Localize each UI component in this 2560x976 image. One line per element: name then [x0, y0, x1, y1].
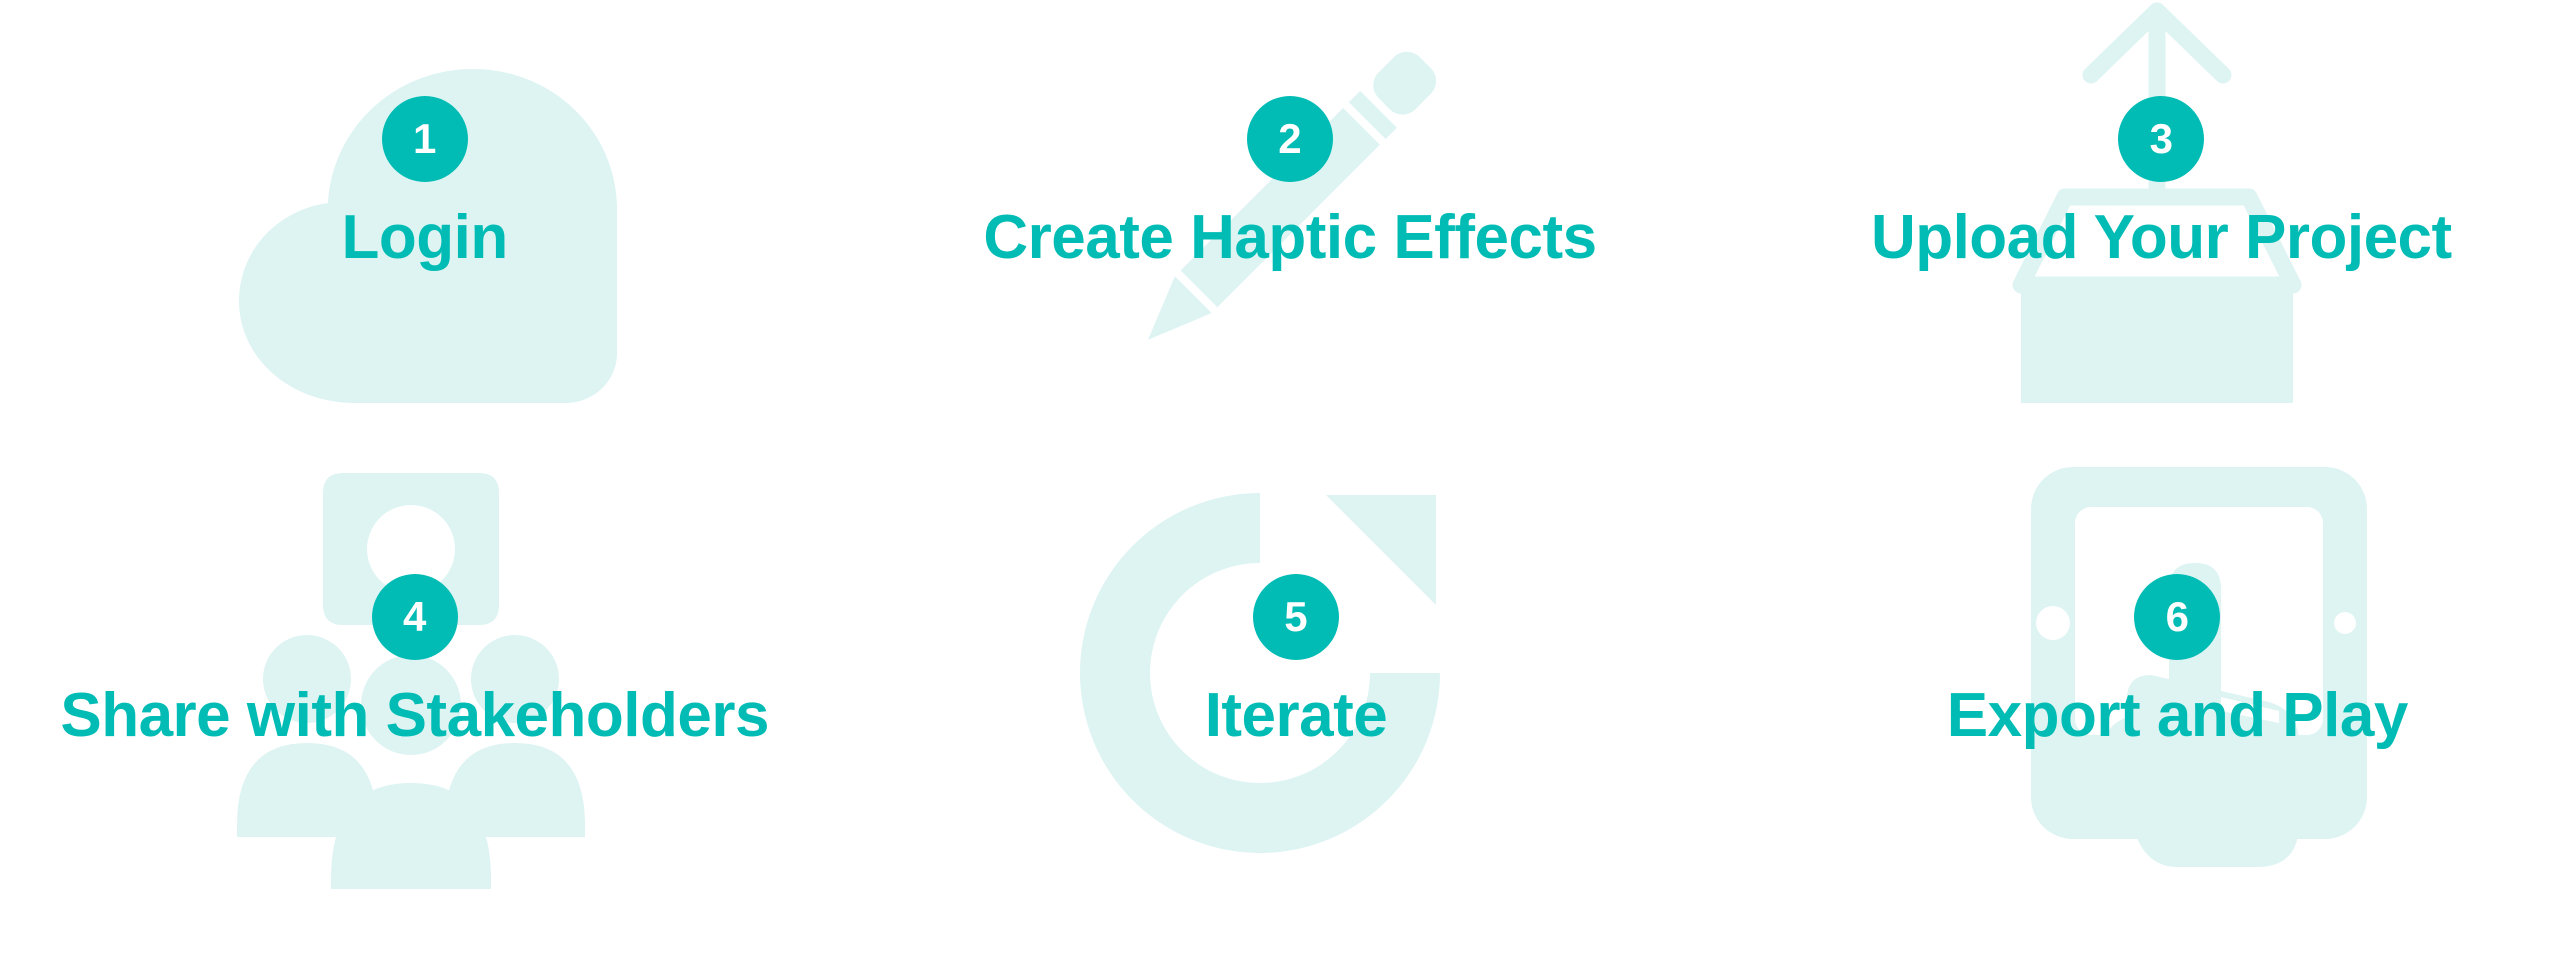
step-label-6: Export and Play	[1947, 682, 2408, 750]
step-label-1: Login	[342, 204, 508, 272]
step-number-badge-6: 6	[2134, 574, 2220, 660]
refresh-loop-icon	[1040, 461, 1480, 891]
step-number-6: 6	[2166, 596, 2189, 638]
step-number-3: 3	[2150, 118, 2173, 160]
step-stack-1: 1 Login	[145, 1, 705, 471]
step-number-5: 5	[1284, 596, 1307, 638]
step-number-badge-3: 3	[2118, 96, 2204, 182]
step-number-4: 4	[403, 596, 426, 638]
step-card-5[interactable]: 5 Iterate	[853, 488, 1706, 976]
step-card-2[interactable]: 2 Create Haptic Effects	[853, 0, 1706, 488]
step-number-badge-2: 2	[1247, 96, 1333, 182]
people-group-icon	[191, 465, 631, 895]
step-stack-4: 4 Share with Stakeholders	[135, 479, 695, 949]
step-label-4: Share with Stakeholders	[60, 682, 769, 750]
step-card-4[interactable]: 4 Share with Stakeholders	[0, 488, 853, 976]
step-stack-3: 3 Upload Your Project	[1881, 1, 2441, 471]
tablet-touch-icon	[1979, 461, 2419, 891]
step-number-1: 1	[413, 118, 436, 160]
step-number-2: 2	[1278, 118, 1301, 160]
step-stack-2: 2 Create Haptic Effects	[1010, 1, 1570, 471]
step-number-badge-1: 1	[382, 96, 468, 182]
step-label-3: Upload Your Project	[1871, 204, 2452, 272]
step-card-6[interactable]: 6 Export and Play	[1707, 488, 2560, 976]
step-stack-5: 5 Iterate	[1016, 479, 1576, 949]
workflow-steps-board: 1 Login 2 Create Ha	[0, 0, 2560, 976]
step-stack-6: 6 Export and Play	[1897, 479, 2457, 949]
step-label-2: Create Haptic Effects	[983, 204, 1596, 272]
step-number-badge-5: 5	[1253, 574, 1339, 660]
step-label-5: Iterate	[1205, 682, 1388, 750]
step-number-badge-4: 4	[372, 574, 458, 660]
step-card-1[interactable]: 1 Login	[0, 0, 853, 488]
step-card-3[interactable]: 3 Upload Your Project	[1707, 0, 2560, 488]
